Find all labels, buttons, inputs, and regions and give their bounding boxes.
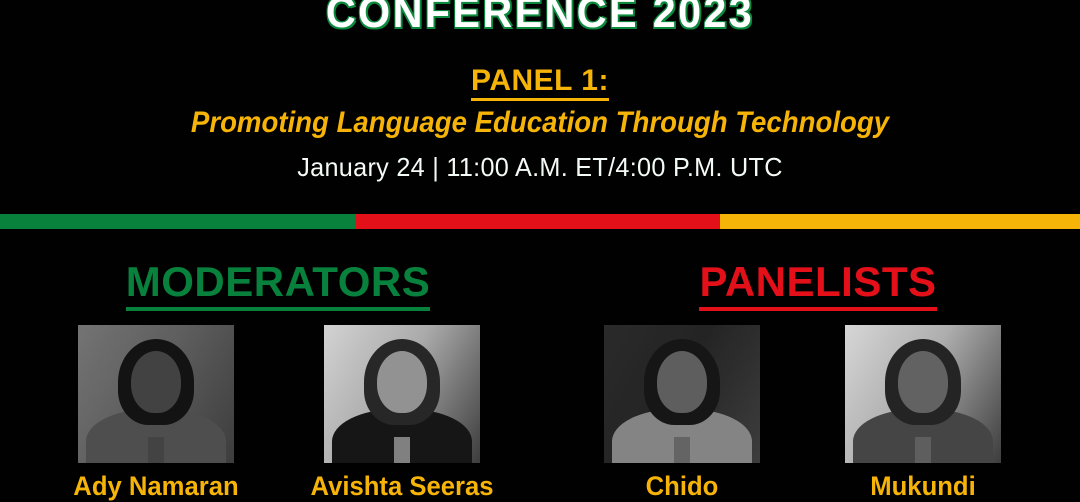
portrait-image <box>604 325 760 463</box>
person-name: Avishta Seeras <box>290 471 514 502</box>
section-heading-moderators-text: MODERATORS <box>126 258 430 311</box>
red-segment <box>356 214 720 229</box>
section-heading-panelists-text: PANELISTS <box>699 258 936 311</box>
conference-flyer: CONFERENCE 2023 PANEL 1: Promoting Langu… <box>0 0 1080 500</box>
conference-title: CONFERENCE 2023 <box>32 0 1047 38</box>
person-card: Avishta Seeras <box>324 325 480 463</box>
portrait-photo <box>78 325 234 463</box>
person-name: Mukundi <box>811 471 1035 502</box>
panel-datetime: January 24 | 11:00 A.M. ET/4:00 P.M. UTC <box>16 152 1064 183</box>
panel-label-text: PANEL 1: <box>471 64 609 101</box>
section-heading-panelists: PANELISTS <box>556 258 1080 306</box>
person-card: Chido <box>604 325 760 463</box>
panel-subtitle: Promoting Language Education Through Tec… <box>43 106 1037 140</box>
person-name: Chido <box>570 471 794 502</box>
panel-label: PANEL 1: <box>0 64 1080 98</box>
person-card: Mukundi <box>845 325 1001 463</box>
portrait-image <box>324 325 480 463</box>
portrait-photo <box>324 325 480 463</box>
section-heading-moderators: MODERATORS <box>0 258 556 306</box>
portrait-image <box>78 325 234 463</box>
gold-segment <box>720 214 1080 229</box>
person-name: Ady Namaran <box>44 471 268 502</box>
portrait-image <box>845 325 1001 463</box>
portrait-photo <box>604 325 760 463</box>
green-segment <box>0 214 356 229</box>
person-card: Ady Namaran <box>78 325 234 463</box>
portrait-photo <box>845 325 1001 463</box>
tricolor-divider <box>0 214 1080 229</box>
